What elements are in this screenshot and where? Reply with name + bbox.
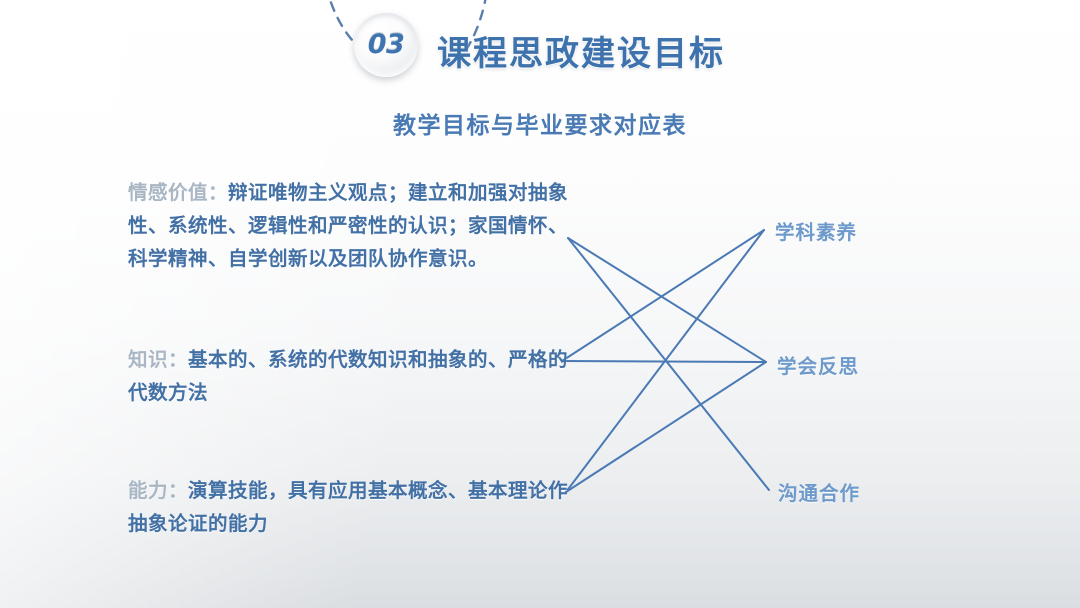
goal-label-knowledge: 知识： <box>128 349 188 371</box>
requirement-label-learn-to-reflect: 学会反思 <box>777 350 859 379</box>
mapping-link-knowledge-to-subject-literacy <box>562 230 764 361</box>
goal-block-ability: 能力：演算技能，具有应用基本概念、基本理论作抽象论证的能力 <box>128 475 578 541</box>
goal-block-knowledge: 知识：基本的、系统的代数知识和抽象的、严格的代数方法 <box>128 344 578 410</box>
goal-label-ability: 能力： <box>128 480 188 502</box>
mapping-link-emotional-value-to-communication-cooperation <box>568 238 769 490</box>
slide-canvas: 03 课程思政建设目标 教学目标与毕业要求对应表 情感价值：辩证唯物主义观点；建… <box>0 0 1080 608</box>
goal-text-knowledge: 基本的、系统的代数知识和抽象的、严格的代数方法 <box>128 349 568 404</box>
mapping-link-group <box>562 230 769 492</box>
section-number-badge: 03 <box>354 13 418 77</box>
page-subtitle: 教学目标与毕业要求对应表 <box>0 106 1080 140</box>
goal-label-emotional-value: 情感价值： <box>128 182 228 204</box>
slide-header: 03 课程思政建设目标 教学目标与毕业要求对应表 <box>0 0 1080 150</box>
mapping-link-knowledge-to-learn-to-reflect <box>562 361 766 362</box>
goal-text-ability: 演算技能，具有应用基本概念、基本理论作抽象论证的能力 <box>128 480 568 535</box>
page-title: 课程思政建设目标 <box>437 26 725 75</box>
mapping-link-ability-to-learn-to-reflect <box>566 362 766 492</box>
goal-block-emotional-value: 情感价值：辩证唯物主义观点；建立和加强对抽象性、系统性、逻辑性和严密性的认识；家… <box>128 177 578 276</box>
requirement-label-communication-cooperation: 沟通合作 <box>778 477 860 506</box>
requirement-label-subject-literacy: 学科素养 <box>775 216 857 245</box>
mapping-link-emotional-value-to-learn-to-reflect <box>568 238 766 362</box>
mapping-link-ability-to-subject-literacy <box>566 230 764 492</box>
section-number-text: 03 <box>368 29 405 60</box>
